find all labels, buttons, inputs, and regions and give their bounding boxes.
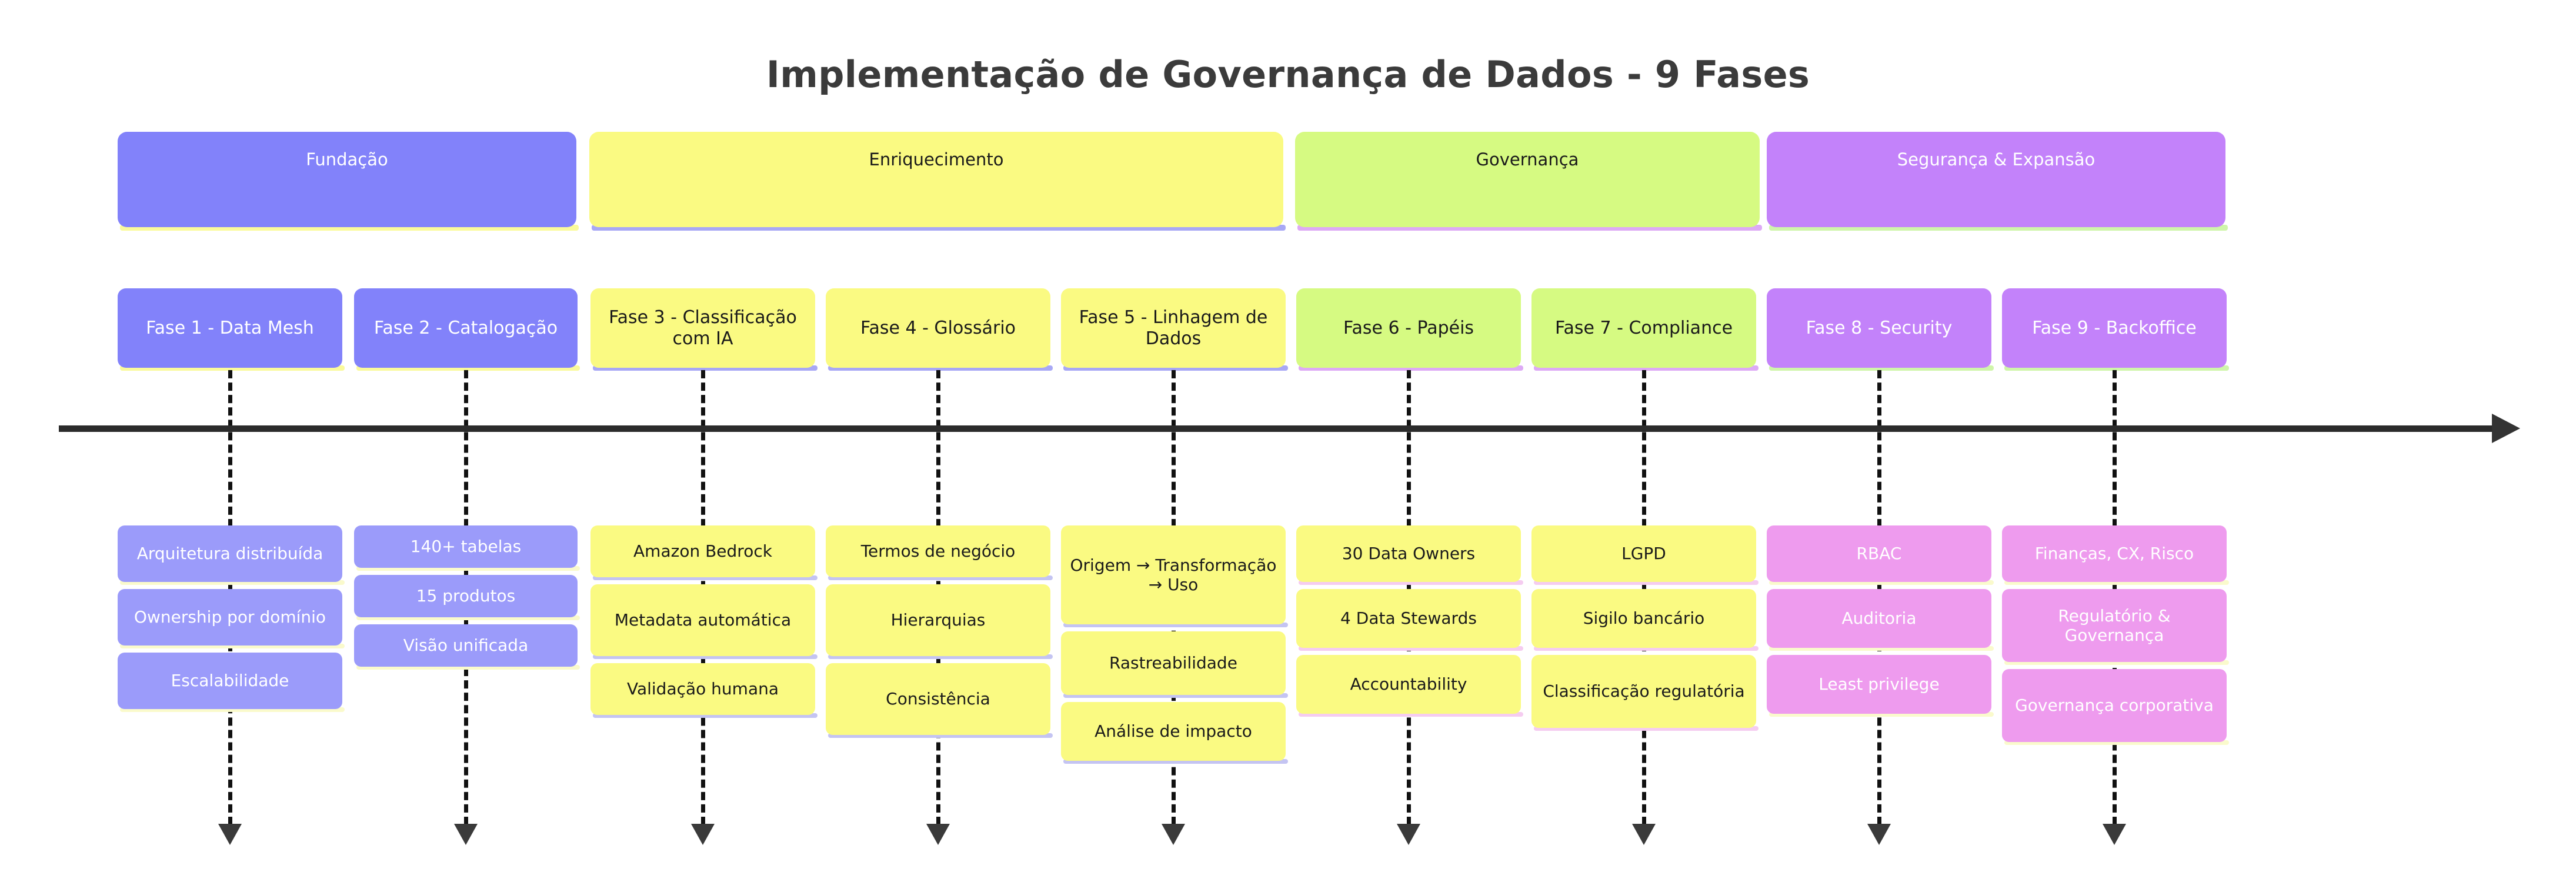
phase-box-8[interactable]: Fase 8 - Security xyxy=(1767,288,1991,368)
detail-box-p9-2[interactable]: Regulatório & Governança xyxy=(2002,589,2227,662)
phase-connector-arrow-icon-4 xyxy=(926,824,950,845)
category-band-1[interactable]: Fundação xyxy=(118,132,576,227)
detail-box-label: Arquitetura distribuída xyxy=(124,544,336,563)
detail-box-label: Origem → Transformação → Uso xyxy=(1067,555,1280,594)
phase-box-3[interactable]: Fase 3 - Classificação com IA xyxy=(590,288,815,368)
category-band-2[interactable]: Enriquecimento xyxy=(589,132,1283,227)
phase-connector-arrow-icon-1 xyxy=(218,824,242,845)
phase-connector-arrow-icon-3 xyxy=(691,824,715,845)
phase-box-label: Fase 6 - Papéis xyxy=(1302,318,1515,338)
detail-box-p1-3[interactable]: Escalabilidade xyxy=(118,653,342,709)
detail-box-p7-3[interactable]: Classificação regulatória xyxy=(1531,655,1756,728)
detail-box-p4-3[interactable]: Consistência xyxy=(826,663,1050,735)
detail-box-p7-2[interactable]: Sigilo bancário xyxy=(1531,589,1756,648)
category-band-label: Segurança & Expansão xyxy=(1773,149,2220,169)
phase-box-label: Fase 7 - Compliance xyxy=(1537,318,1750,338)
phase-box-9[interactable]: Fase 9 - Backoffice xyxy=(2002,288,2227,368)
detail-box-label: Classificação regulatória xyxy=(1537,681,1750,701)
detail-box-p8-2[interactable]: Auditoria xyxy=(1767,589,1991,648)
detail-box-label: Amazon Bedrock xyxy=(596,541,809,561)
detail-box-label: Hierarquias xyxy=(832,610,1045,630)
phase-box-label: Fase 8 - Security xyxy=(1773,318,1986,338)
phase-connector-arrow-icon-7 xyxy=(1632,824,1656,845)
category-band-label: Enriquecimento xyxy=(595,149,1277,169)
timeline-arrow-icon xyxy=(2492,414,2520,443)
phase-box-7[interactable]: Fase 7 - Compliance xyxy=(1531,288,1756,368)
phase-box-label: Fase 3 - Classificação com IA xyxy=(596,307,809,349)
phase-box-label: Fase 4 - Glossário xyxy=(832,318,1045,338)
category-band-4[interactable]: Segurança & Expansão xyxy=(1767,132,2225,227)
detail-box-p9-3[interactable]: Governança corporativa xyxy=(2002,669,2227,742)
detail-box-label: Least privilege xyxy=(1773,674,1986,694)
detail-box-label: Consistência xyxy=(832,689,1045,708)
detail-box-label: Governança corporativa xyxy=(2008,696,2221,715)
detail-box-label: Metadata automática xyxy=(596,610,809,630)
page-title: Implementação de Governança de Dados - 9… xyxy=(0,53,2576,96)
detail-box-label: Termos de negócio xyxy=(832,541,1045,561)
phase-box-label: Fase 1 - Data Mesh xyxy=(124,318,336,338)
phase-box-label: Fase 9 - Backoffice xyxy=(2008,318,2221,338)
phase-box-label: Fase 2 - Catalogação xyxy=(360,318,572,338)
phase-connector-arrow-icon-9 xyxy=(2103,824,2126,845)
detail-box-label: Visão unificada xyxy=(360,636,572,655)
detail-box-p3-2[interactable]: Metadata automática xyxy=(590,584,815,656)
detail-box-label: Análise de impacto xyxy=(1067,721,1280,741)
detail-box-p6-1[interactable]: 30 Data Owners xyxy=(1296,525,1521,582)
phase-box-1[interactable]: Fase 1 - Data Mesh xyxy=(118,288,342,368)
detail-box-p4-2[interactable]: Hierarquias xyxy=(826,584,1050,656)
detail-box-label: RBAC xyxy=(1773,544,1986,563)
phase-box-label: Fase 5 - Linhagem de Dados xyxy=(1067,307,1280,349)
phase-box-5[interactable]: Fase 5 - Linhagem de Dados xyxy=(1061,288,1286,368)
detail-box-label: Rastreabilidade xyxy=(1067,653,1280,673)
detail-box-p3-3[interactable]: Validação humana xyxy=(590,663,815,715)
detail-box-p2-1[interactable]: 140+ tabelas xyxy=(354,525,578,568)
detail-box-p9-1[interactable]: Finanças, CX, Risco xyxy=(2002,525,2227,582)
category-band-label: Fundação xyxy=(124,149,570,169)
detail-box-p5-3[interactable]: Análise de impacto xyxy=(1061,702,1286,761)
detail-box-p1-1[interactable]: Arquitetura distribuída xyxy=(118,525,342,582)
detail-box-p5-1[interactable]: Origem → Transformação → Uso xyxy=(1061,525,1286,624)
timeline-axis-line xyxy=(59,425,2497,432)
category-band-label: Governança xyxy=(1301,149,1754,169)
detail-box-label: Regulatório & Governança xyxy=(2008,606,2221,645)
phase-box-6[interactable]: Fase 6 - Papéis xyxy=(1296,288,1521,368)
detail-box-p4-1[interactable]: Termos de negócio xyxy=(826,525,1050,577)
detail-box-p2-2[interactable]: 15 produtos xyxy=(354,575,578,617)
detail-box-p8-1[interactable]: RBAC xyxy=(1767,525,1991,582)
detail-box-label: Sigilo bancário xyxy=(1537,608,1750,628)
detail-box-label: Auditoria xyxy=(1773,608,1986,628)
detail-box-label: 4 Data Stewards xyxy=(1302,608,1515,628)
detail-box-label: Finanças, CX, Risco xyxy=(2008,544,2221,563)
phase-box-2[interactable]: Fase 2 - Catalogação xyxy=(354,288,578,368)
detail-box-label: 140+ tabelas xyxy=(360,537,572,556)
detail-box-label: Ownership por domínio xyxy=(124,607,336,627)
detail-box-p1-2[interactable]: Ownership por domínio xyxy=(118,589,342,646)
detail-box-p7-1[interactable]: LGPD xyxy=(1531,525,1756,582)
detail-box-p3-1[interactable]: Amazon Bedrock xyxy=(590,525,815,577)
category-band-3[interactable]: Governança xyxy=(1295,132,1760,227)
detail-box-label: LGPD xyxy=(1537,544,1750,563)
detail-box-label: Validação humana xyxy=(596,679,809,698)
diagram-canvas: Implementação de Governança de Dados - 9… xyxy=(0,0,2576,895)
detail-box-p6-3[interactable]: Accountability xyxy=(1296,655,1521,714)
phase-connector-arrow-icon-2 xyxy=(454,824,478,845)
phase-box-4[interactable]: Fase 4 - Glossário xyxy=(826,288,1050,368)
detail-box-p6-2[interactable]: 4 Data Stewards xyxy=(1296,589,1521,648)
phase-connector-arrow-icon-8 xyxy=(1867,824,1891,845)
detail-box-label: Accountability xyxy=(1302,674,1515,694)
detail-box-label: 15 produtos xyxy=(360,586,572,605)
detail-box-p8-3[interactable]: Least privilege xyxy=(1767,655,1991,714)
detail-box-p5-2[interactable]: Rastreabilidade xyxy=(1061,631,1286,695)
phase-connector-arrow-icon-6 xyxy=(1397,824,1420,845)
detail-box-label: 30 Data Owners xyxy=(1302,544,1515,563)
phase-connector-arrow-icon-5 xyxy=(1162,824,1185,845)
detail-box-label: Escalabilidade xyxy=(124,671,336,690)
detail-box-p2-3[interactable]: Visão unificada xyxy=(354,624,578,667)
